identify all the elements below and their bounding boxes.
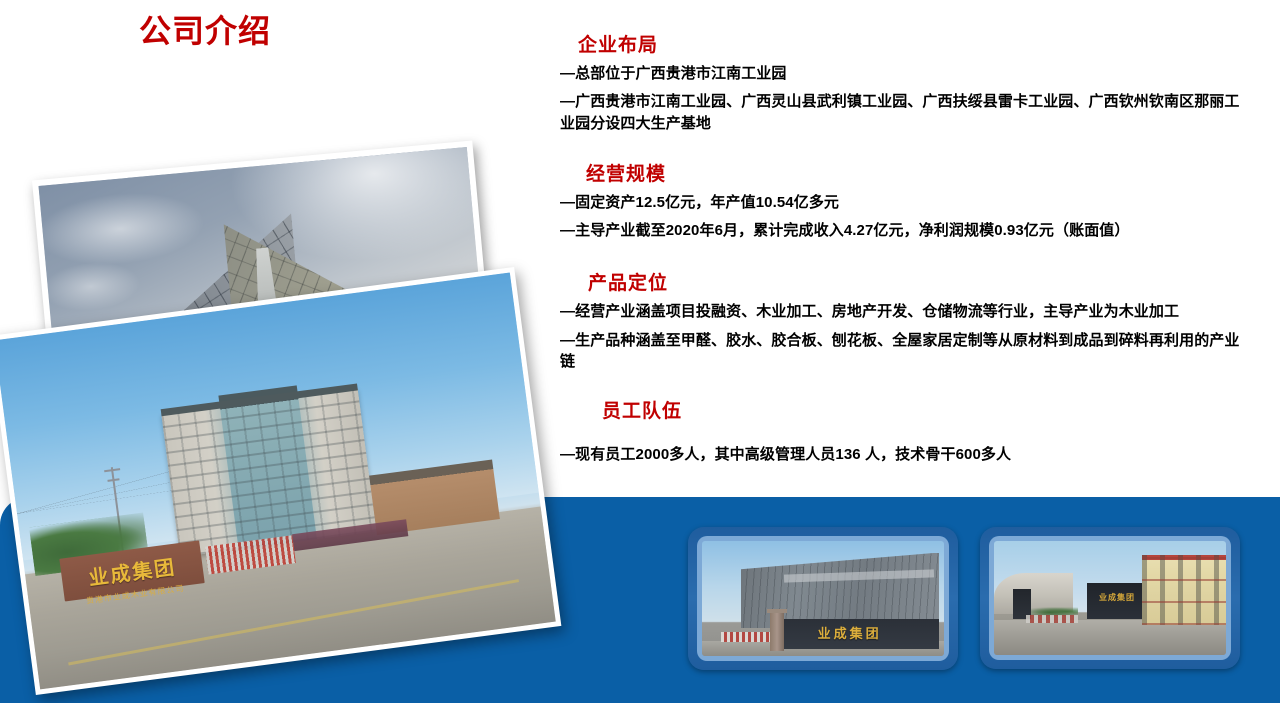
photo-headquarters: 业成集团 贵港市业成木业有限公司: [0, 267, 561, 695]
section-staff-team: 员工队伍 —现有员工2000多人，其中高级管理人员136 人，技术骨干600多人: [560, 396, 1250, 465]
photo-headquarters-image: 业成集团 贵港市业成木业有限公司: [0, 273, 556, 690]
thumbnail-image-2: 业成集团: [994, 541, 1226, 655]
t2-gate-post: [1013, 589, 1032, 619]
thumbnail-frame-1: 业成集团: [697, 536, 949, 661]
page-title: 公司介绍: [139, 6, 271, 52]
thumbnail-image-1: 业成集团: [702, 541, 944, 656]
spacer-1: [560, 141, 1250, 159]
bullet-scale-2: —主导产业截至2020年6月，累计完成收入4.27亿元，净利润规模0.93亿元（…: [560, 220, 1250, 241]
t2-road-barrier: [1026, 615, 1077, 623]
thumbnail-frame-2: 业成集团: [989, 536, 1231, 660]
section-heading-staff-team: 员工队伍: [602, 396, 1250, 423]
spacer-3: [560, 379, 1250, 396]
t1-fence: [721, 632, 769, 642]
section-heading-enterprise-layout: 企业布局: [578, 30, 1250, 57]
section-enterprise-layout: 企业布局 —总部位于广西贵港市江南工业园 —广西贵港市江南工业园、广西灵山县武利…: [560, 30, 1250, 134]
t1-wall-sign-text: 业成集团: [789, 623, 910, 642]
spacer-4: [560, 429, 1250, 444]
slide-root: 业成集团 贵港市业成木业有限公司 公司介绍 企业布局 —总部位于广西贵港市江南工…: [0, 0, 1280, 703]
t1-gate-pillar: [770, 612, 785, 651]
thumbnail-factory-entrance[interactable]: 业成集团: [980, 527, 1240, 669]
bullet-scale-1: —固定资产12.5亿元，年产值10.54亿多元: [560, 192, 1250, 213]
bullet-product-1: —经营产业涵盖项目投融资、木业加工、房地产开发、仓储物流等行业，主导产业为木业加…: [560, 301, 1250, 322]
t2-gate-sign-text: 业成集团: [1096, 592, 1138, 603]
section-heading-product-positioning: 产品定位: [588, 268, 1250, 295]
bullet-staff-1: —现有员工2000多人，其中高级管理人员136 人，技术骨干600多人: [560, 444, 1250, 465]
section-product-positioning: 产品定位 —经营产业涵盖项目投融资、木业加工、房地产开发、仓储物流等行业，主导产…: [560, 268, 1250, 372]
section-heading-business-scale: 经营规模: [586, 159, 1250, 186]
bullet-layout-1: —总部位于广西贵港市江南工业园: [560, 63, 1250, 84]
content-column: 企业布局 —总部位于广西贵港市江南工业园 —广西贵港市江南工业园、广西灵山县武利…: [560, 30, 1250, 473]
spacer-2: [560, 248, 1250, 268]
bullet-product-2: —生产品种涵盖至甲醛、胶水、胶合板、刨花板、全屋家居定制等从原材料到成品到碎料再…: [560, 330, 1250, 373]
section-business-scale: 经营规模 —固定资产12.5亿元，年产值10.54亿多元 —主导产业截至2020…: [560, 159, 1250, 242]
t2-office-building: [1142, 555, 1226, 626]
thumbnail-factory-warehouse[interactable]: 业成集团: [688, 527, 958, 670]
bullet-layout-2: —广西贵港市江南工业园、广西灵山县武利镇工业园、广西扶绥县雷卡工业园、广西钦州钦…: [560, 91, 1250, 134]
